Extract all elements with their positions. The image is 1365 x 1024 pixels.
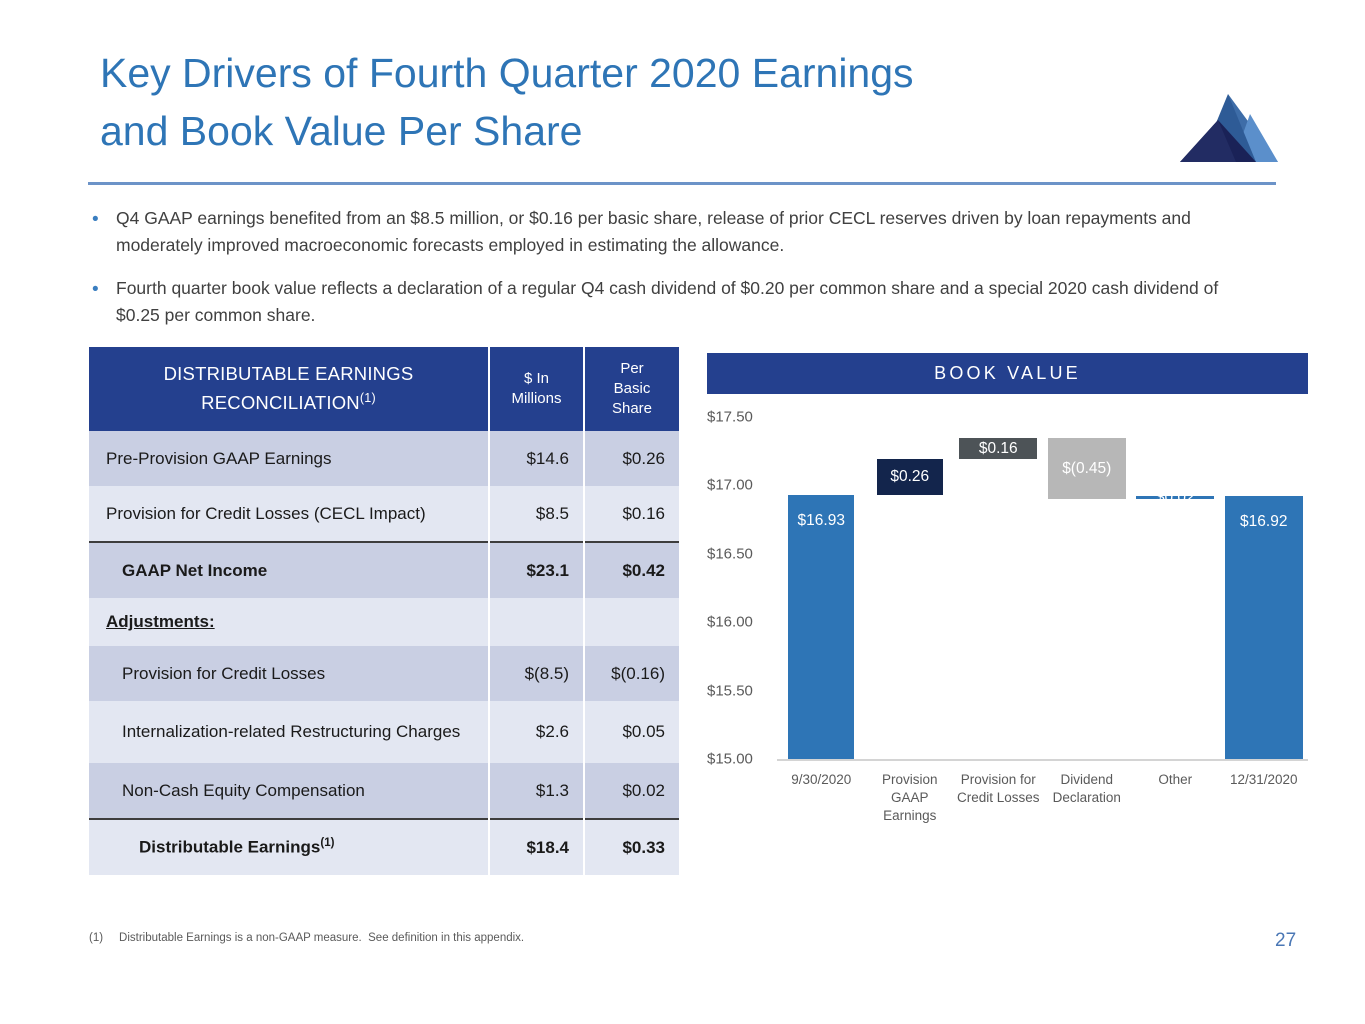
bullet-dot-icon: • (92, 206, 99, 233)
page-title-line-1: Key Drivers of Fourth Quarter 2020 Earni… (100, 44, 1160, 102)
row-per-share: $(0.16) (584, 646, 679, 701)
page-number: 27 (1275, 930, 1296, 952)
chart-bar-value-label: $(0.45) (1062, 461, 1111, 477)
x-axis-tick-label: 12/31/2020 (1210, 771, 1319, 789)
row-millions: $1.3 (489, 763, 584, 819)
chart-plot-area: $17.50$17.00$16.50$16.00$15.50$15.00$16.… (707, 401, 1308, 821)
footnote-marker: (1) (89, 932, 103, 944)
header-divider (88, 182, 1276, 185)
row-millions: $8.5 (489, 486, 584, 542)
row-per-share: $0.33 (584, 819, 679, 875)
table-header-footnote-marker: (1) (360, 391, 376, 405)
table-header-per-share-line-3: Share (585, 399, 679, 419)
table-header-per-share-line-2: Basic (585, 379, 679, 399)
table-row: Provision for Credit Losses $(8.5) $(0.1… (89, 646, 679, 701)
book-value-chart: BOOK VALUE $17.50$17.00$16.50$16.00$15.5… (707, 353, 1308, 828)
list-item: • Q4 GAAP earnings benefited from an $8.… (88, 205, 1248, 259)
row-per-share: $0.16 (584, 486, 679, 542)
table-header-title-line-2: RECONCILIATION(1) (89, 386, 488, 415)
row-millions: $14.6 (489, 431, 584, 486)
table-row-section-heading: Adjustments: (89, 598, 679, 646)
chart-bar-value-label: $0.16 (979, 441, 1018, 457)
x-axis-tick-label-line: 12/31/2020 (1210, 771, 1319, 789)
row-millions: $2.6 (489, 701, 584, 763)
chart-bar: $0.02 (1136, 496, 1214, 499)
row-millions (489, 598, 584, 646)
distributable-earnings-table: DISTRIBUTABLE EARNINGS RECONCILIATION(1)… (89, 347, 679, 875)
row-millions: $23.1 (489, 542, 584, 598)
x-axis-line (777, 759, 1308, 761)
x-axis-tick-label-line: Declaration (1033, 789, 1142, 807)
chart-title: BOOK VALUE (707, 353, 1308, 394)
chart-bar-value-label: $0.26 (890, 469, 929, 485)
page-title-line-2: and Book Value Per Share (100, 102, 1160, 160)
y-axis-tick-label: $16.00 (707, 614, 773, 631)
y-axis-tick-label: $15.50 (707, 682, 773, 699)
table-row: Non-Cash Equity Compensation $1.3 $0.02 (89, 763, 679, 819)
chart-bar: $0.16 (959, 438, 1037, 460)
table-header-title: DISTRIBUTABLE EARNINGS RECONCILIATION(1) (89, 347, 489, 431)
y-axis-tick-label: $17.50 (707, 409, 773, 426)
row-label: Provision for Credit Losses (89, 646, 489, 701)
table-header-title-line-1: DISTRIBUTABLE EARNINGS (89, 362, 488, 386)
row-label-footnote-marker: (1) (320, 837, 334, 849)
row-millions: $18.4 (489, 819, 584, 875)
chart-bar: $0.26 (877, 459, 943, 495)
row-per-share: $0.02 (584, 763, 679, 819)
row-per-share (584, 598, 679, 646)
chart-bar-value-label: $16.93 (798, 513, 845, 529)
chart-bar-value-label: $0.02 (1156, 490, 1195, 506)
y-axis-tick-label: $17.00 (707, 477, 773, 494)
x-axis-tick-label-line: Earnings (856, 807, 965, 825)
chart-bar-value-label: $16.92 (1240, 514, 1287, 530)
row-label: Adjustments: (89, 598, 489, 646)
row-label: Non-Cash Equity Compensation (89, 763, 489, 819)
table-header-per-share-line-1: Per (585, 359, 679, 379)
table-header-per-share: Per Basic Share (584, 347, 679, 431)
list-item: • Fourth quarter book value reflects a d… (88, 275, 1248, 329)
table-row-total: Distributable Earnings(1) $18.4 $0.33 (89, 819, 679, 875)
y-axis-tick-label: $15.00 (707, 751, 773, 768)
row-label: Pre-Provision GAAP Earnings (89, 431, 489, 486)
table-row: Provision for Credit Losses (CECL Impact… (89, 486, 679, 542)
row-per-share: $0.05 (584, 701, 679, 763)
page-title: Key Drivers of Fourth Quarter 2020 Earni… (100, 44, 1160, 160)
chart-bar: $(0.45) (1048, 438, 1126, 500)
bullet-text: Q4 GAAP earnings benefited from an $8.5 … (116, 208, 1191, 255)
table-header-row: DISTRIBUTABLE EARNINGS RECONCILIATION(1)… (89, 347, 679, 431)
bullet-dot-icon: • (92, 276, 99, 303)
bullet-text: Fourth quarter book value reflects a dec… (116, 278, 1218, 325)
table-row-subtotal: GAAP Net Income $23.1 $0.42 (89, 542, 679, 598)
row-label: GAAP Net Income (89, 542, 489, 598)
table-row: Internalization-related Restructuring Ch… (89, 701, 679, 763)
y-axis-tick-label: $16.50 (707, 545, 773, 562)
table-row: Pre-Provision GAAP Earnings $14.6 $0.26 (89, 431, 679, 486)
row-label: Internalization-related Restructuring Ch… (89, 701, 489, 763)
table-header-millions-line-2: Millions (490, 389, 583, 409)
bullet-list: • Q4 GAAP earnings benefited from an $8.… (88, 205, 1248, 345)
row-millions: $(8.5) (489, 646, 584, 701)
footnote: (1) Distributable Earnings is a non-GAAP… (89, 932, 524, 944)
chart-bar: $16.93 (788, 495, 854, 759)
table-header-millions-line-1: $ In (490, 369, 583, 389)
row-label: Provision for Credit Losses (CECL Impact… (89, 486, 489, 542)
row-per-share: $0.42 (584, 542, 679, 598)
mountain-logo-icon (1178, 92, 1278, 164)
row-per-share: $0.26 (584, 431, 679, 486)
row-label: Distributable Earnings(1) (89, 819, 489, 875)
footnote-text: Distributable Earnings is a non-GAAP mea… (119, 932, 524, 944)
chart-bar: $16.92 (1225, 496, 1303, 759)
table-header-millions: $ In Millions (489, 347, 584, 431)
